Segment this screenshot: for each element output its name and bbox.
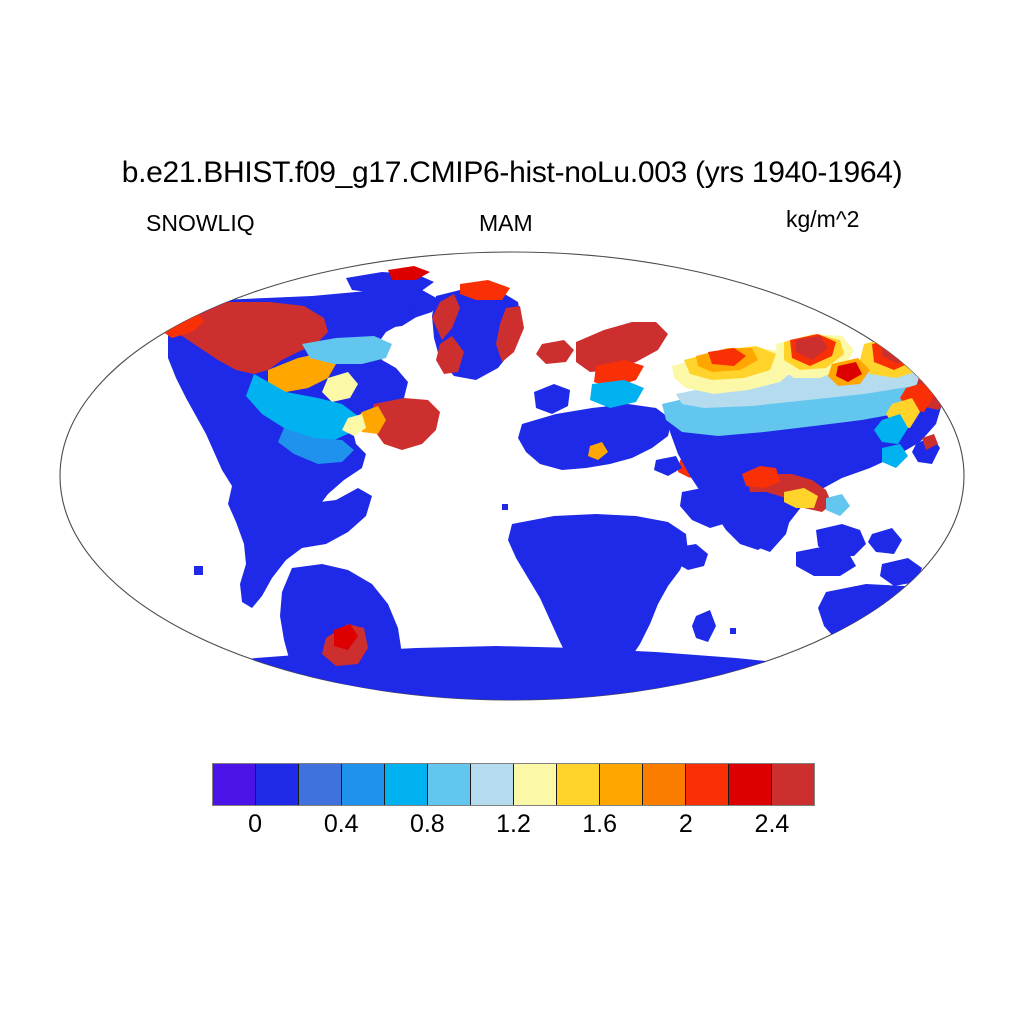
colorbar-cell-12[interactable] (729, 764, 772, 805)
page-title: b.e21.BHIST.f09_g17.CMIP6-hist-noLu.003 … (0, 156, 1024, 190)
canary-island (502, 504, 508, 510)
world-map (36, 248, 988, 722)
colorbar-cell-13[interactable] (772, 764, 814, 805)
colorbar-cell-3[interactable] (342, 764, 385, 805)
colorbar-cell-8[interactable] (557, 764, 600, 805)
hawaii-island (194, 566, 203, 575)
colorbar-tick-1.6: 1.6 (582, 810, 617, 839)
map-panel (36, 248, 988, 722)
colorbar-cell-10[interactable] (643, 764, 686, 805)
colorbar-cell-2[interactable] (299, 764, 342, 805)
subtitle-row: SNOWLIQ MAM kg/m^2 (0, 210, 1024, 238)
season-label: MAM (479, 210, 533, 237)
colorbar[interactable] (212, 763, 815, 806)
figure-canvas: b.e21.BHIST.f09_g17.CMIP6-hist-noLu.003 … (0, 0, 1024, 1024)
colorbar-tick-2.4: 2.4 (755, 810, 790, 839)
colorbar-cell-4[interactable] (385, 764, 428, 805)
colorbar-tick-0.8: 0.8 (410, 810, 445, 839)
colorbar-tick-2: 2 (679, 810, 693, 839)
new-zealand-blue (940, 634, 970, 664)
colorbar-cell-11[interactable] (686, 764, 729, 805)
island-sw-indian (730, 628, 736, 634)
colorbar-cell-1[interactable] (256, 764, 299, 805)
colorbar-cell-5[interactable] (428, 764, 471, 805)
variable-label: SNOWLIQ (146, 210, 255, 237)
units-label: kg/m^2 (786, 206, 859, 233)
colorbar-tick-0: 0 (248, 810, 262, 839)
australia-blue (818, 584, 928, 654)
colorbar-cell-9[interactable] (600, 764, 643, 805)
colorbar-cell-7[interactable] (514, 764, 557, 805)
colorbar-tick-0.4: 0.4 (324, 810, 359, 839)
colorbar-cell-6[interactable] (471, 764, 514, 805)
colorbar-cell-0[interactable] (213, 764, 256, 805)
colorbar-tick-labels: 00.40.81.21.622.4 (212, 810, 815, 844)
colorbar-tick-1.2: 1.2 (496, 810, 531, 839)
